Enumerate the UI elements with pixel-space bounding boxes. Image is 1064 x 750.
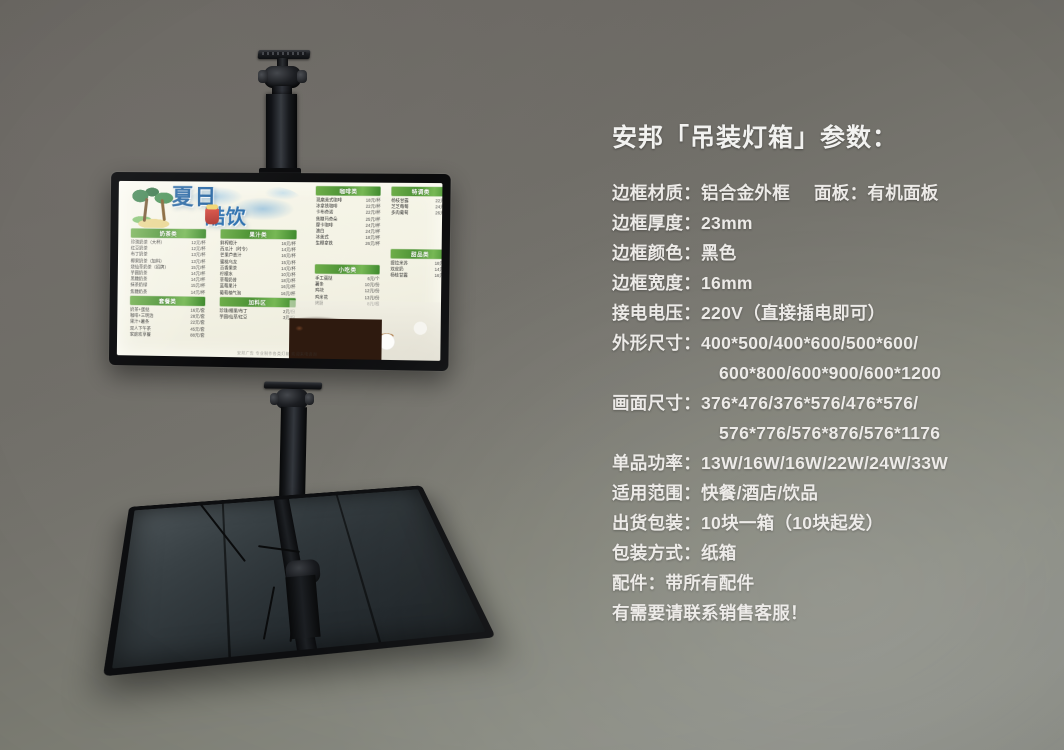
spec-list: 安邦「吊装灯箱」参数： 边框材质：铝合金外框面板：有机面板边框厚度：23mm边框… [612,118,1042,628]
menu-item-price: 16元/份 [434,273,442,279]
spec-line: 边框颜色：黑色 [612,238,1042,268]
spec-line: 配件：带所有配件 [612,568,1042,598]
menu-item-name: 焦糖奶茶 [130,289,147,295]
spec-label: 外形尺寸： [612,333,701,353]
spec-value: 220V（直接插电即可） [701,303,885,323]
menu-item: 焦糖奶茶14元/杯 [130,289,205,296]
menu-section: 套餐类奶茶+蛋挞16元/套咖啡+三明治28元/套果汁+薯条22元/套双人下午茶4… [130,296,205,339]
menu-section-title: 特调类 [412,187,430,195]
menu-section-title: 小吃类 [339,265,357,273]
lower-swivel-knob-left-icon [270,393,279,405]
menu-item-price: 26元/杯 [365,241,380,247]
spec-line: 外形尺寸：400*500/400*600/500*600/ [612,328,1042,358]
spec-value: 376*476/376*576/476*576/ [701,393,918,413]
swivel-knob-right-icon [297,70,307,83]
menu-section-header: 甜品类 [391,249,443,259]
menu-item-price: 16元/杯 [281,291,296,297]
spec-value: 13W/16W/16W/22W/24W/33W [701,453,948,473]
spec-label: 边框宽度： [612,273,701,293]
menu-item-name: 生椰拿铁 [316,241,333,247]
spec-label: 边框颜色： [612,243,701,263]
menu-panel: 夏日 酷饮 奶茶类珍珠奶茶（大杯）12元/杯红豆奶茶12元/杯布丁奶茶13元/杯… [117,181,443,361]
spec-value: 纸箱 [701,543,737,563]
spec-value: 576*776/576*876/576*1176 [719,423,940,443]
spec-line: 单品功率：13W/16W/16W/22W/24W/33W [612,448,1042,478]
lower-bracket [285,575,320,639]
spec-line: 边框宽度：16mm [612,268,1042,298]
spec-value: 带所有配件 [665,573,754,593]
menu-section-title: 甜品类 [411,250,429,258]
spec-line: 边框厚度：23mm [612,208,1042,238]
menu-section-title: 奶茶类 [160,229,178,237]
menu-item: 多肉葡萄26元/杯 [391,210,442,217]
menu-section-title: 加料区 [248,298,266,306]
menu-section: 咖啡类现磨美式咖啡18元/杯冰拿铁咖啡22元/杯卡布奇诺22元/杯焦糖玛奇朵25… [316,186,381,247]
menu-item: 家庭欢享餐88元/套 [130,331,205,338]
menu-section-header: 加料区 [220,297,296,307]
spec-extra: 面板：有机面板 [790,183,939,203]
menu-section-title: 咖啡类 [339,187,357,195]
menu-section: 甜品类提拉米苏18元/份双皮奶14元/份杨枝甘露16元/份 [390,249,442,280]
spec-label: 画面尺寸： [612,393,701,413]
menu-item: 芋圆/仙草/红豆3元/份 [219,314,295,321]
spec-line: 出货包装：10块一箱（10块起发） [612,508,1042,538]
spec-value: 23mm [701,213,753,233]
spec-label: 接电电压： [612,303,701,323]
spec-value: 400*500/400*600/500*600/ [701,333,918,353]
menu-item-price: 14元/杯 [191,289,205,295]
spec-line: 576*776/576*876/576*1176 [612,418,1042,448]
product-photo: 夏日 酷饮 奶茶类珍珠奶茶（大杯）12元/杯红豆奶茶12元/杯布丁奶茶13元/杯… [0,0,600,750]
spec-value: 10块一箱（10块起发） [701,513,884,533]
spec-line: 600*800/600*900/600*1200 [612,358,1042,388]
spec-title: 安邦「吊装灯箱」参数： [612,118,1042,154]
spec-lines: 边框材质：铝合金外框面板：有机面板边框厚度：23mm边框颜色：黑色边框宽度：16… [612,178,1042,628]
menu-section-header: 奶茶类 [131,229,206,239]
menu-section-title: 果汁类 [249,230,267,238]
spec-line: 适用范围：快餐/酒店/饮品 [612,478,1042,508]
menu-section: 果汁类鲜榨橙汁16元/杯西瓜汁（时令）14元/杯芒果芦荟汁16元/杯蜜桃乌龙15… [220,229,296,297]
spec-label: 包装方式： [612,543,701,563]
swivel-joint-icon [264,66,301,88]
menu-hero-title: 夏日 酷饮 [167,186,311,233]
spec-line: 边框材质：铝合金外框面板：有机面板 [612,178,1042,208]
menu-item: 杨枝甘露16元/份 [390,273,442,280]
menu-item: 葡萄柚气泡16元/杯 [220,290,296,297]
menu-section-title: 套餐类 [159,297,177,305]
spec-line: 有需要请联系销售客服！ [612,598,1042,628]
menu-item-name: 杨枝甘露 [390,273,407,279]
spec-value: 有需要请联系销售客服！ [612,603,808,623]
menu-section: 特调类杨枝甘露22元/杯芝芝莓莓24元/杯多肉葡萄26元/杯 [391,187,442,217]
menu-item-name: 多肉葡萄 [391,210,408,216]
menu-item-name: 家庭欢享餐 [130,331,151,337]
spec-label: 边框材质： [612,183,701,203]
spec-line: 画面尺寸：376*476/376*576/476*576/ [612,388,1042,418]
spec-label: 边框厚度： [612,213,701,233]
spec-value: 600*800/600*900/600*1200 [719,363,941,383]
menu-section-header: 特调类 [391,187,442,197]
panel-seam [222,504,231,657]
menu-section-header: 果汁类 [220,229,296,239]
lightbox-top: 夏日 酷饮 奶茶类珍珠奶茶（大杯）12元/杯红豆奶茶12元/杯布丁奶茶13元/杯… [109,172,451,371]
menu-section-header: 小吃类 [315,264,380,274]
menu-item: 生椰拿铁26元/杯 [316,241,381,248]
product-spec-image: 夏日 酷饮 奶茶类珍珠奶茶（大杯）12元/杯红豆奶茶12元/杯布丁奶茶13元/杯… [0,0,1064,750]
menu-section: 加料区珍珠/椰果/布丁2元/份芋圆/仙草/红豆3元/份 [219,297,295,321]
swivel-knob-left-icon [258,70,268,83]
spec-label: 适用范围： [612,483,701,503]
menu-item-name: 葡萄柚气泡 [220,290,241,296]
spec-value: 16mm [701,273,753,293]
spec-value: 快餐/酒店/饮品 [701,483,818,503]
menu-section: 奶茶类珍珠奶茶（大杯）12元/杯红豆奶茶12元/杯布丁奶茶13元/杯椰果奶茶（加… [130,229,206,296]
menu-item-price: 26元/杯 [435,211,442,217]
menu-item-name: 芋圆/仙草/红豆 [219,314,247,321]
menu-section-header: 套餐类 [130,296,205,306]
menu-item-price: 88元/套 [190,332,204,338]
spec-label: 单品功率： [612,453,701,473]
spec-line: 接电电压：220V（直接插电即可） [612,298,1042,328]
lower-swivel-knob-right-icon [305,393,314,405]
spec-value: 黑色 [701,243,737,263]
spec-line: 包装方式：纸箱 [612,538,1042,568]
spec-label: 配件： [612,573,665,593]
panel-seam [336,495,381,642]
menu-section-header: 咖啡类 [316,186,381,196]
menu-hero: 夏日 酷饮 [120,182,311,235]
spec-label: 出货包装： [612,513,701,533]
spec-value: 铝合金外框 [701,183,790,203]
drink-cup-icon [205,208,219,224]
